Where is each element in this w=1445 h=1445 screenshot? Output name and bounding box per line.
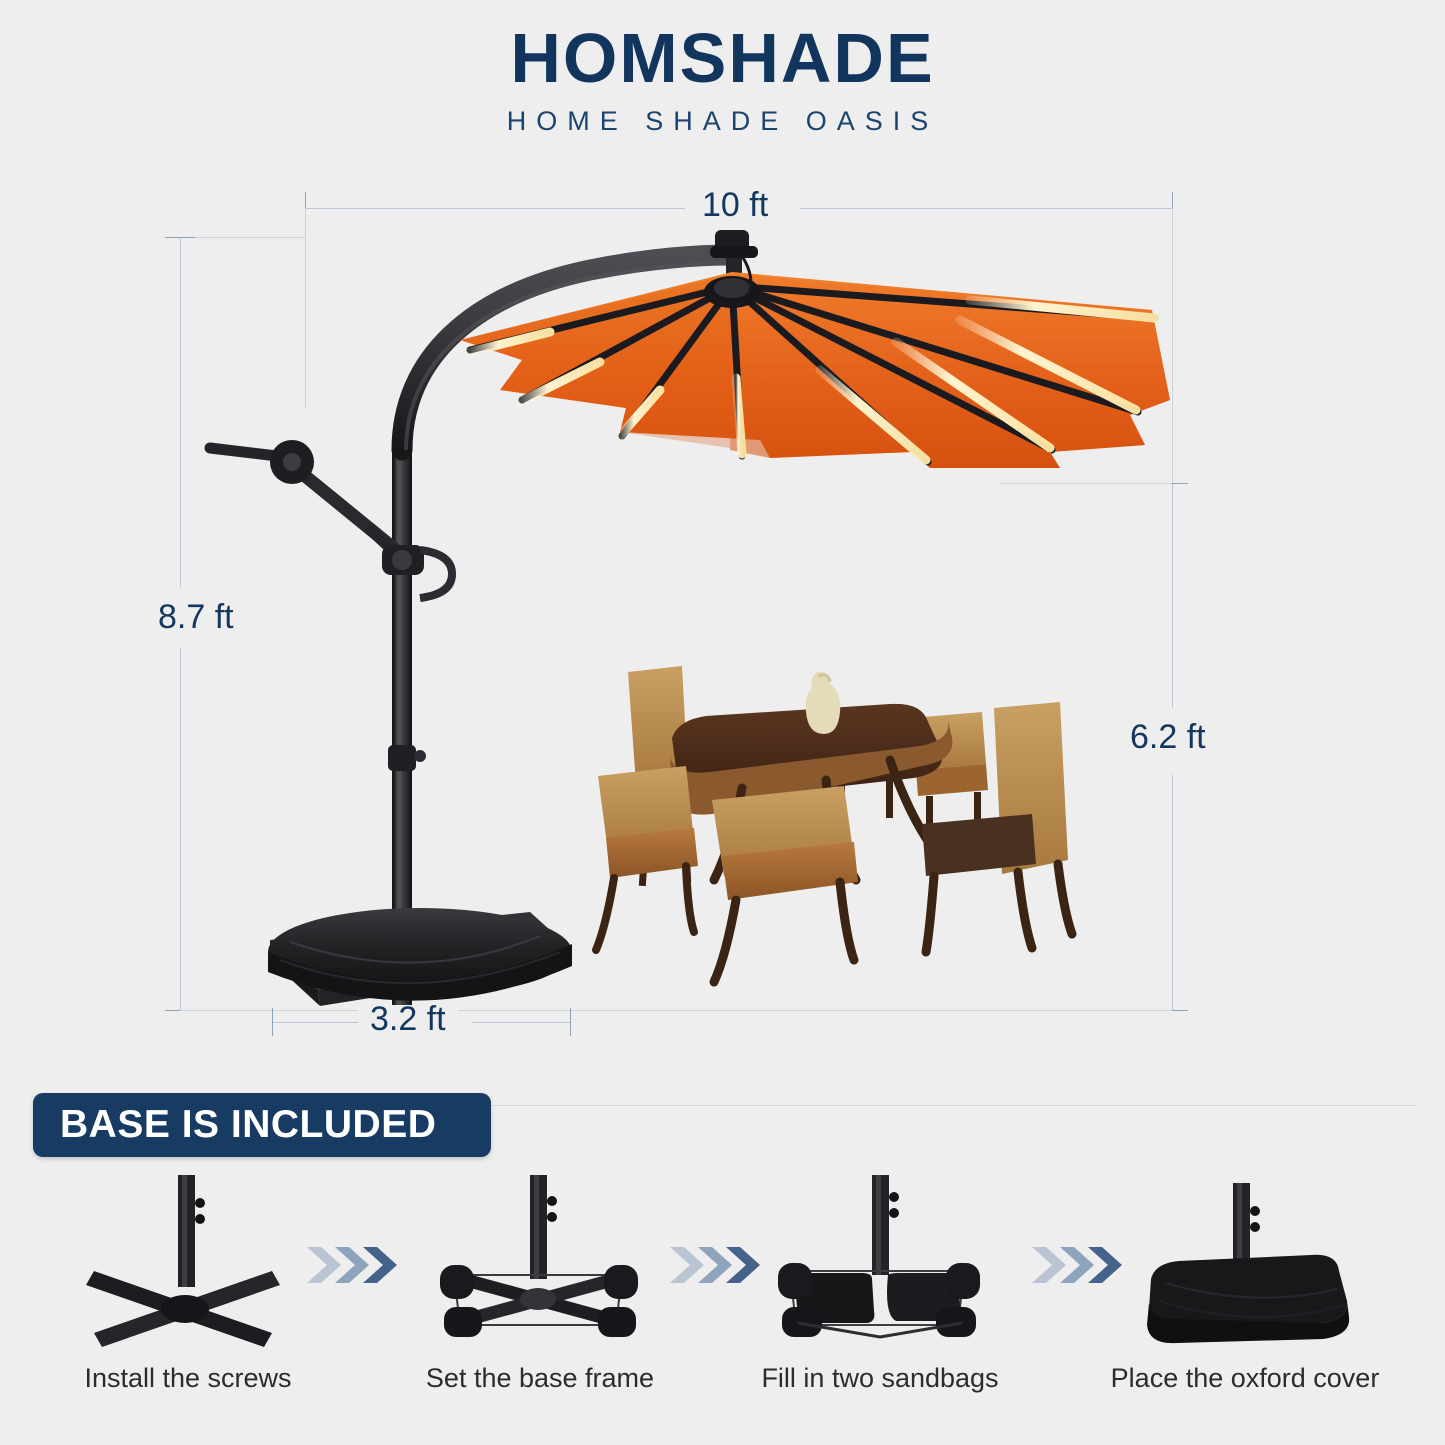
assembly-step-3-caption: Fill in two sandbags — [761, 1363, 998, 1394]
chair-front-center — [712, 786, 858, 982]
brand-tagline: HOME SHADE OASIS — [0, 106, 1445, 137]
assembly-step-1-caption: Install the screws — [84, 1363, 291, 1394]
base-dimension-line-right — [472, 1022, 570, 1023]
base-included-badge-label: BASE IS INCLUDED — [60, 1103, 436, 1147]
assembly-steps: Install the screws — [0, 1175, 1445, 1420]
step-arrow-1 — [305, 1243, 401, 1287]
patio-furniture-illustration — [590, 660, 1130, 990]
base-included-badge: BASE IS INCLUDED — [33, 1093, 491, 1157]
assembly-step-2: Set the base frame — [390, 1175, 690, 1420]
badge-divider — [491, 1105, 1416, 1106]
brand-header: HOMSHADE HOME SHADE OASIS — [0, 22, 1445, 137]
brand-name: HOMSHADE — [0, 22, 1445, 96]
infographic-page: HOMSHADE HOME SHADE OASIS 10 ft 8.7 ft 6… — [0, 0, 1445, 1445]
base-frame-icon — [410, 1175, 670, 1353]
decorative-vase — [806, 672, 841, 734]
assembly-step-4-caption: Place the oxford cover — [1111, 1363, 1380, 1394]
cross-base-icon — [58, 1175, 318, 1353]
assembly-step-2-caption: Set the base frame — [426, 1363, 654, 1394]
support-strut — [210, 440, 402, 560]
assembly-step-4: Place the oxford cover — [1095, 1175, 1395, 1420]
assembly-step-1: Install the screws — [38, 1175, 338, 1420]
sandbags-icon — [750, 1175, 1010, 1353]
base-dimension-line-left — [272, 1022, 364, 1023]
height-adjust-collar — [388, 745, 426, 771]
oxford-cover-icon — [1115, 1175, 1375, 1353]
chair-front-left — [596, 766, 698, 950]
assembly-step-3: Fill in two sandbags — [730, 1175, 1030, 1420]
umbrella-base — [268, 908, 572, 1006]
